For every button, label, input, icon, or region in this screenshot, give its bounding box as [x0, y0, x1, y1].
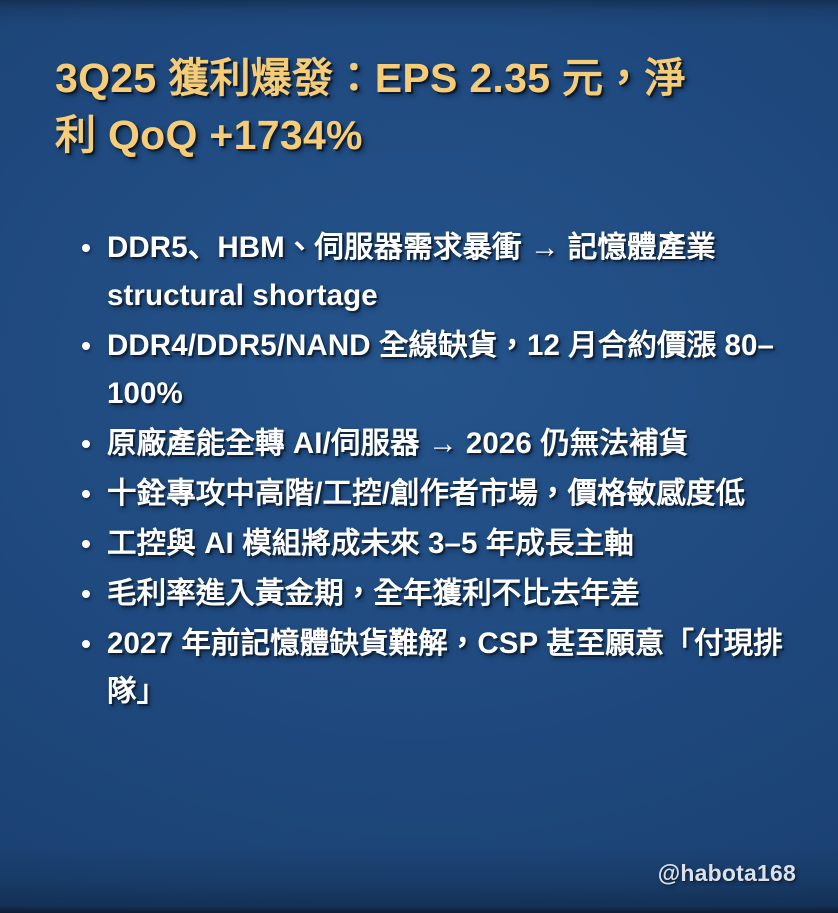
bullet-dot-icon: [82, 490, 90, 498]
page-title: 3Q25 獲利爆發：EPS 2.35 元，淨 利 QoQ +1734%: [55, 50, 800, 164]
list-item-text: 2027 年前記憶體缺貨難解，CSP 甚至願意「付現排隊」: [107, 627, 783, 708]
list-item-text: 原廠產能全轉 AI/伺服器 → 2026 仍無法補貨: [107, 427, 688, 460]
bullet-dot-icon: [82, 540, 90, 548]
bullet-dot-icon: [82, 440, 90, 448]
page-title-line-2: 利 QoQ +1734%: [55, 107, 800, 164]
list-item: DDR5、HBM、伺服器需求暴衝 → 記憶體產業 structural shor…: [72, 224, 820, 320]
list-item: 十銓專攻中高階/工控/創作者市場，價格敏感度低: [72, 470, 820, 518]
list-item: 毛利率進入黃金期，全年獲利不比去年差: [72, 570, 820, 618]
list-item-text: DDR4/DDR5/NAND 全線缺貨，12 月合約價漲 80–100%: [107, 329, 774, 410]
list-item: DDR4/DDR5/NAND 全線缺貨，12 月合約價漲 80–100%: [72, 322, 820, 418]
list-item-text: 毛利率進入黃金期，全年獲利不比去年差: [107, 577, 640, 610]
list-item: 原廠產能全轉 AI/伺服器 → 2026 仍無法補貨: [72, 420, 820, 468]
list-item-text: DDR5、HBM、伺服器需求暴衝 → 記憶體產業 structural shor…: [107, 231, 716, 312]
list-item-text: 十銓專攻中高階/工控/創作者市場，價格敏感度低: [107, 477, 745, 510]
slide-canvas: 3Q25 獲利爆發：EPS 2.35 元，淨 利 QoQ +1734% DDR5…: [0, 0, 838, 913]
bullet-dot-icon: [82, 640, 90, 648]
page-title-line-1: 3Q25 獲利爆發：EPS 2.35 元，淨: [55, 50, 800, 107]
bullet-dot-icon: [82, 342, 90, 350]
list-item: 工控與 AI 模組將成未來 3–5 年成長主軸: [72, 520, 820, 568]
watermark-handle: @habota168: [658, 860, 796, 887]
bullet-dot-icon: [82, 244, 90, 252]
list-item: 2027 年前記憶體缺貨難解，CSP 甚至願意「付現排隊」: [72, 620, 820, 716]
list-item-text: 工控與 AI 模組將成未來 3–5 年成長主軸: [107, 527, 634, 560]
bullet-dot-icon: [82, 590, 90, 598]
bullet-list: DDR5、HBM、伺服器需求暴衝 → 記憶體產業 structural shor…: [72, 224, 820, 718]
